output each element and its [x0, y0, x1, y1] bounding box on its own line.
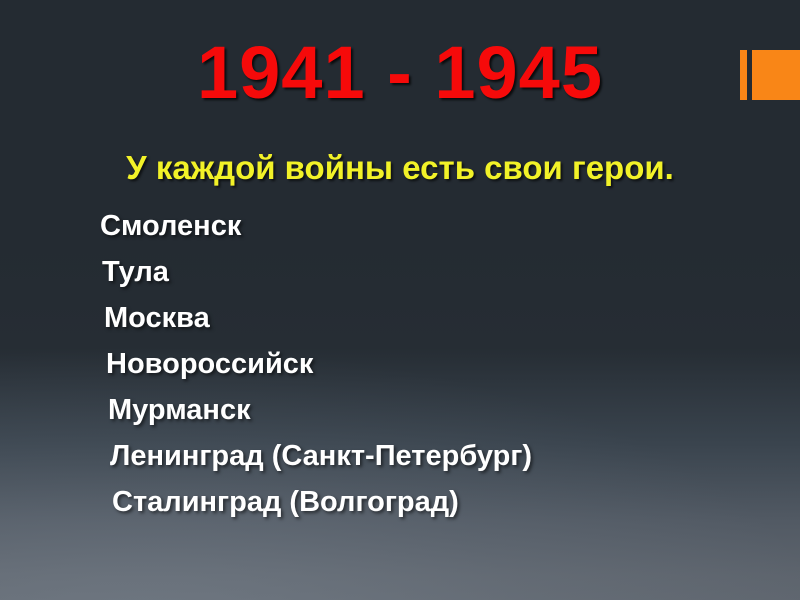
list-item: Новороссийск [0, 341, 800, 387]
city-list: Смоленск Тула Москва Новороссийск Мурман… [0, 203, 800, 525]
list-item: Мурманск [0, 387, 800, 433]
list-item: Тула [0, 249, 800, 295]
list-item: Смоленск [0, 203, 800, 249]
slide-subtitle: У каждой войны есть свои герои. [0, 150, 800, 186]
list-item: Сталинград (Волгоград) [0, 479, 800, 525]
list-item: Ленинград (Санкт-Петербург) [0, 433, 800, 479]
orange-block [752, 50, 800, 100]
presentation-slide: 1941 - 1945 У каждой войны есть свои гер… [0, 0, 800, 600]
slide-title: 1941 - 1945 [0, 36, 800, 110]
orange-thin-bar [740, 50, 747, 100]
list-item: Москва [0, 295, 800, 341]
orange-accent-decoration [740, 50, 800, 100]
